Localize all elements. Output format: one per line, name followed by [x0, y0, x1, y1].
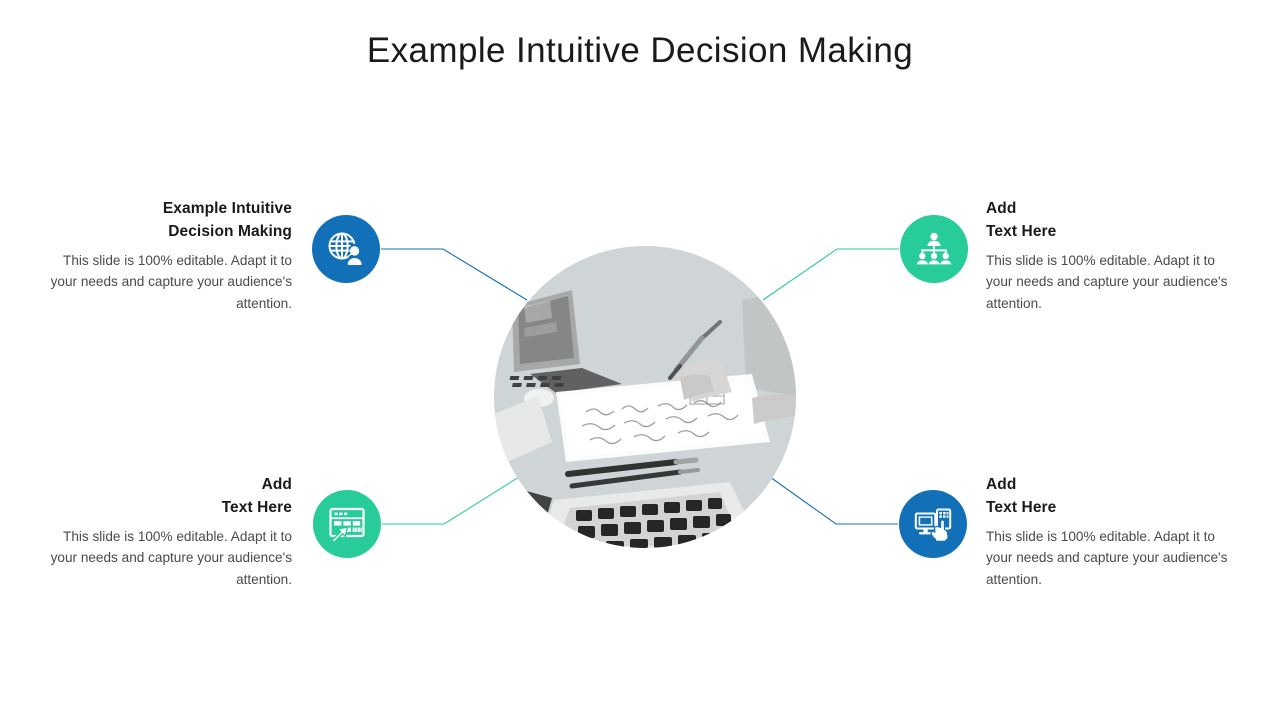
node-heading-top-right: Add Text Here [986, 198, 1242, 244]
computer-hand-touch-icon [914, 505, 952, 543]
node-icon-bottom-left[interactable] [313, 490, 381, 558]
node-icon-bottom-right[interactable] [899, 490, 967, 558]
node-body-bottom-right: This slide is 100% editable. Adapt it to… [986, 526, 1242, 590]
node-heading-line2: Decision Making [168, 223, 292, 240]
node-body-bottom-left: This slide is 100% editable. Adapt it to… [36, 526, 292, 590]
node-heading-line2: Text Here [986, 223, 1056, 240]
page-title: Example Intuitive Decision Making [0, 30, 1280, 72]
node-heading-line2: Text Here [222, 499, 292, 516]
node-heading-bottom-right: Add Text Here [986, 474, 1242, 520]
globe-user-icon [326, 229, 366, 269]
node-heading-line1: Add [986, 200, 1016, 217]
node-text-top-right: Add Text Here This slide is 100% editabl… [986, 198, 1242, 314]
organization-chart-icon [915, 230, 953, 268]
slide-canvas: Example Intuitive Decision Making 0%#d9d… [0, 0, 1280, 720]
node-text-top-left: Example Intuitive Decision Making This s… [36, 198, 292, 314]
node-heading-top-left: Example Intuitive Decision Making [36, 198, 292, 244]
node-text-bottom-right: Add Text Here This slide is 100% editabl… [986, 474, 1242, 590]
center-photo: 0%#d9dedf 100%#c2c8ca 0%#bdaeab 100%#a59… [494, 246, 796, 548]
node-heading-line1: Add [986, 476, 1016, 493]
node-icon-top-right[interactable] [900, 215, 968, 283]
browser-window-arrow-icon [328, 505, 366, 543]
node-heading-bottom-left: Add Text Here [36, 474, 292, 520]
node-body-top-left: This slide is 100% editable. Adapt it to… [36, 250, 292, 314]
node-heading-line1: Add [262, 476, 292, 493]
node-text-bottom-left: Add Text Here This slide is 100% editabl… [36, 474, 292, 590]
center-photo-image: 0%#d9dedf 100%#c2c8ca 0%#bdaeab 100%#a59… [494, 246, 796, 548]
node-body-top-right: This slide is 100% editable. Adapt it to… [986, 250, 1242, 314]
node-heading-line1: Example Intuitive [163, 200, 292, 217]
node-heading-line2: Text Here [986, 499, 1056, 516]
node-icon-top-left[interactable] [312, 215, 380, 283]
